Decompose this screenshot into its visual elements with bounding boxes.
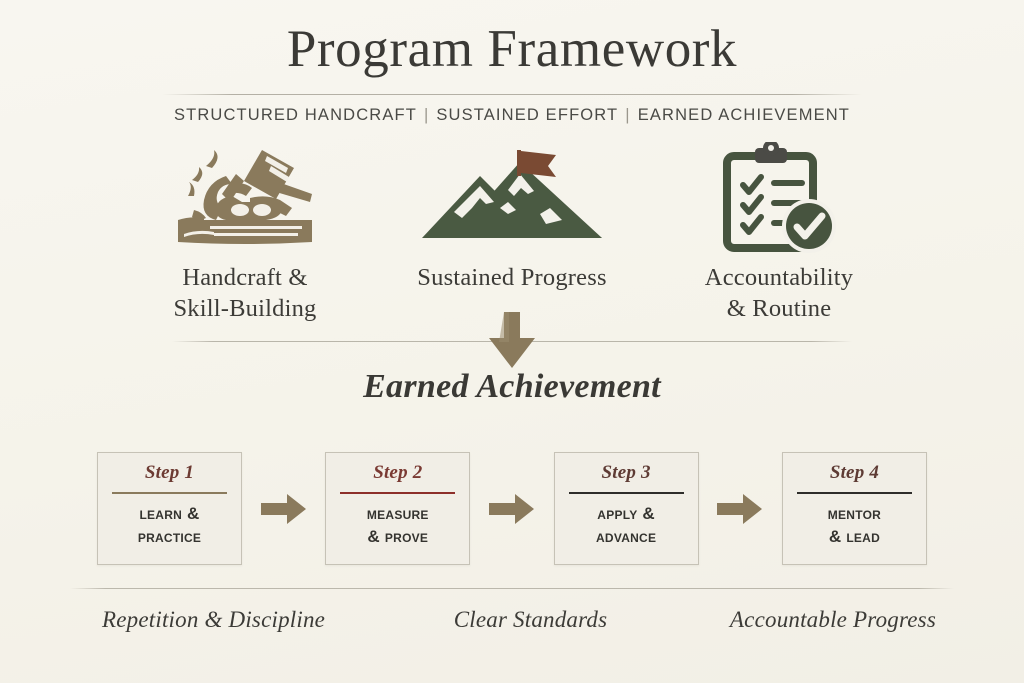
hand-plane-woodworking-icon (120, 142, 370, 254)
step-label-line2: & Lead (829, 527, 880, 546)
step-box-1[interactable]: Step 1 Learn & Practice (97, 452, 242, 565)
step-divider-1 (112, 492, 227, 494)
pillar-progress: Sustained Progress (387, 142, 637, 293)
step-number-3: Step 3 (569, 462, 684, 485)
subtitle: STRUCTURED HANDCRAFT|SUSTAINED EFFORT|EA… (0, 106, 1024, 125)
pillar-handcraft: Handcraft & Skill-Building (120, 142, 370, 324)
down-arrow-icon (485, 312, 539, 370)
title-divider (162, 94, 862, 95)
subtitle-part-1: STRUCTURED HANDCRAFT (174, 106, 417, 124)
step-number-4: Step 4 (797, 462, 912, 485)
header: Program Framework STRUCTURED HANDCRAFT|S… (0, 18, 1024, 125)
right-arrow-icon (717, 492, 763, 526)
steps-row: Step 1 Learn & Practice Step 2 Measure &… (97, 452, 927, 565)
step-box-4[interactable]: Step 4 Mentor & Lead (782, 452, 927, 565)
captions-row: Repetition & Discipline Clear Standards … (80, 607, 944, 633)
pillar-accountability: Accountability & Routine (654, 142, 904, 324)
step-divider-3 (569, 492, 684, 494)
clipboard-checklist-icon (654, 142, 904, 254)
step-label-line1: Learn & (139, 504, 199, 523)
outcome-heading: Earned Achievement (0, 368, 1024, 406)
step-box-3[interactable]: Step 3 Apply & Advance (554, 452, 699, 565)
caption-standards: Clear Standards (454, 607, 608, 633)
pillar-label-line2: & Routine (727, 295, 832, 322)
step-box-2[interactable]: Step 2 Measure & Prove (325, 452, 470, 565)
mountain-flag-icon (387, 142, 637, 254)
step-number-1: Step 1 (112, 462, 227, 485)
caption-accountable: Accountable Progress (730, 607, 936, 633)
caption-repetition: Repetition & Discipline (102, 607, 325, 633)
pillar-label-line1: Accountability (705, 264, 853, 291)
step-divider-2 (340, 492, 455, 494)
pillar-label-line2: Skill-Building (173, 295, 316, 322)
pillar-label-line1: Handcraft & (182, 264, 307, 291)
page-title: Program Framework (0, 18, 1024, 81)
step-label-line1: Apply & (597, 504, 655, 523)
framework-infographic: Program Framework STRUCTURED HANDCRAFT|S… (0, 0, 1024, 683)
subtitle-part-3: EARNED ACHIEVEMENT (638, 106, 850, 124)
step-label-line2: Advance (596, 527, 656, 546)
subtitle-separator-1: | (417, 106, 436, 124)
step-label-3: Apply & Advance (569, 502, 684, 549)
subtitle-part-2: SUSTAINED EFFORT (436, 106, 618, 124)
step-number-2: Step 2 (340, 462, 455, 485)
right-arrow-icon (489, 492, 535, 526)
subtitle-separator-2: | (618, 106, 637, 124)
step-label-line1: Measure (367, 504, 429, 523)
step-divider-4 (797, 492, 912, 494)
step-label-line1: Mentor (828, 504, 881, 523)
pillar-label-line1: Sustained Progress (417, 264, 606, 291)
bottom-divider (70, 588, 954, 589)
pillar-label-accountability: Accountability & Routine (654, 262, 904, 324)
pillars-row: Handcraft & Skill-Building (120, 142, 904, 324)
step-label-2: Measure & Prove (340, 502, 455, 549)
step-label-line2: & Prove (367, 527, 428, 546)
pillar-label-handcraft: Handcraft & Skill-Building (120, 262, 370, 324)
step-label-line2: Practice (138, 527, 201, 546)
pillar-label-progress: Sustained Progress (387, 262, 637, 293)
step-label-4: Mentor & Lead (797, 502, 912, 549)
right-arrow-icon (261, 492, 307, 526)
step-label-1: Learn & Practice (112, 502, 227, 549)
